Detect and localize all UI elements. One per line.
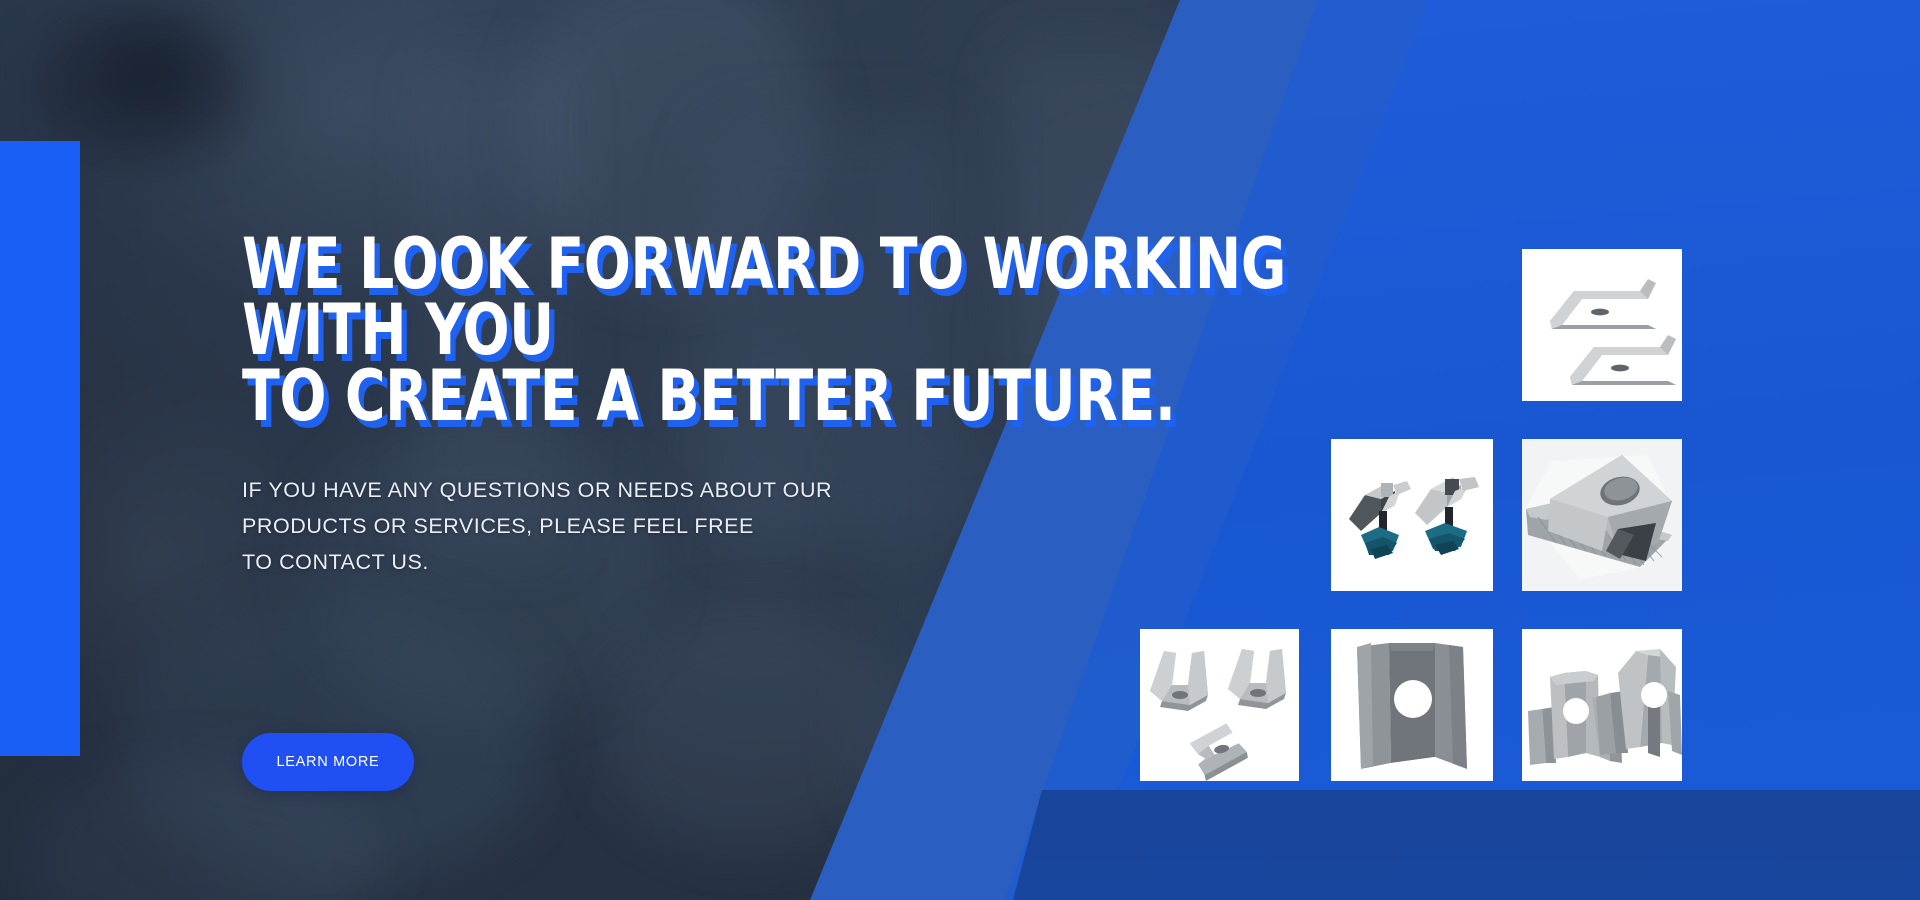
single-midclamp-image bbox=[1331, 629, 1493, 781]
rail-end-clamps-image bbox=[1522, 249, 1682, 401]
product-tile-midclamp-closeup[interactable] bbox=[1522, 439, 1682, 591]
clamps-with-teal-base-image bbox=[1331, 439, 1493, 591]
product-tile-clamps-with-teal-base[interactable] bbox=[1331, 439, 1493, 591]
midclamp-closeup-image bbox=[1522, 439, 1682, 591]
product-tile-single-midclamp[interactable] bbox=[1331, 629, 1493, 781]
product-tile-rail-end-clamps[interactable] bbox=[1522, 249, 1682, 401]
product-tile-three-midclamps[interactable] bbox=[1140, 629, 1299, 781]
hero-banner: WE LOOK FORWARD TO WORKING WITH YOU TO C… bbox=[0, 0, 1920, 900]
three-midclamps-image bbox=[1140, 629, 1299, 781]
product-tile-two-midclamps[interactable] bbox=[1522, 629, 1682, 781]
product-image-grid bbox=[0, 0, 1920, 900]
two-midclamps-image bbox=[1522, 629, 1682, 781]
